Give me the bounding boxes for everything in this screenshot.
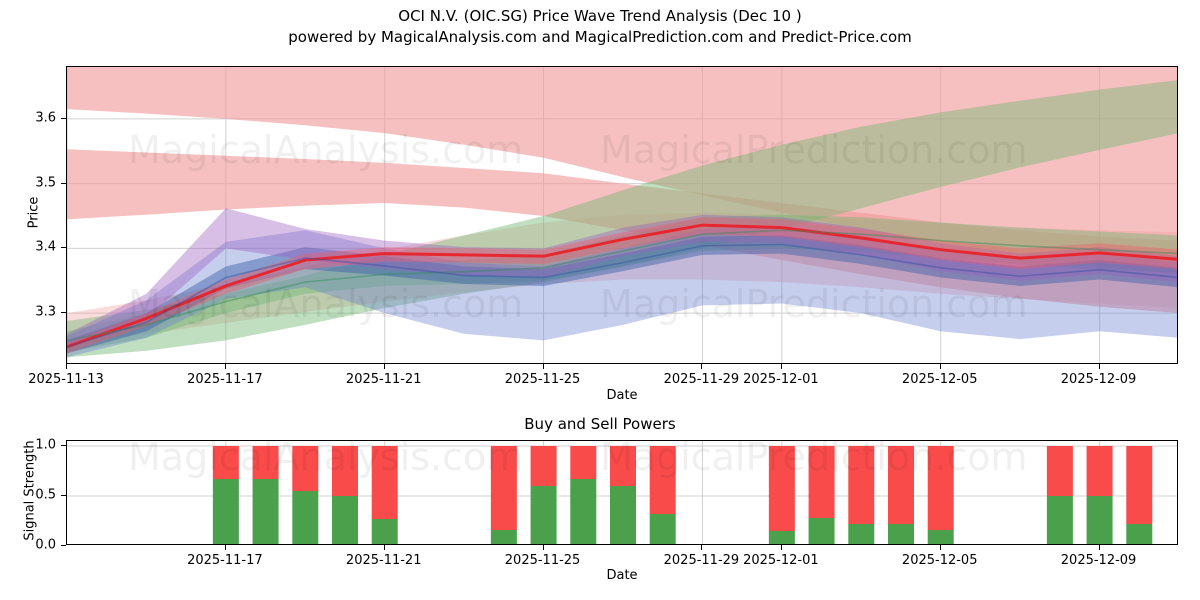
bar-segment-sell [888,446,914,524]
bar-segment-sell [1047,446,1073,496]
bar-segment-buy [809,518,835,545]
signal-chart-title: Buy and Sell Powers [0,415,1200,433]
signal-x-tick-label: 2025-11-21 [346,553,422,568]
signal-y-axis-label: Signal Strength [23,430,38,550]
bar-segment-sell [491,446,517,530]
bar-segment-sell [809,446,835,518]
bar-segment-buy [213,479,239,545]
bar-segment-buy [1087,496,1113,545]
bar-segment-buy [888,524,914,545]
price-x-tick-label: 2025-11-21 [346,372,422,387]
price-x-tick-mark [66,364,67,369]
signal-y-tick-mark [61,495,66,496]
price-x-tick-mark [701,364,702,369]
page-title: OCI N.V. (OIC.SG) Price Wave Trend Analy… [0,6,1200,27]
bar-segment-sell [570,446,596,479]
bar-segment-buy [650,514,676,545]
price-x-tick-label: 2025-11-13 [28,372,104,387]
signal-x-tick-mark [1099,545,1100,550]
price-x-tick-label: 2025-12-01 [743,372,819,387]
bar-segment-sell [650,446,676,514]
bar-segment-sell [531,446,557,486]
price-x-tick-mark [225,364,226,369]
bar-segment-buy [570,479,596,545]
bar-segment-buy [769,531,795,545]
price-y-tick-mark [61,183,66,184]
signal-x-tick-mark [701,545,702,550]
bar-segment-buy [332,496,358,545]
signal-x-tick-label: 2025-12-09 [1061,553,1137,568]
price-x-tick-label: 2025-11-25 [505,372,581,387]
bar-segment-sell [292,446,318,491]
bar-segment-sell [610,446,636,486]
price-x-tick-mark [384,364,385,369]
signal-y-tick-mark [61,445,66,446]
price-y-tick-mark [61,118,66,119]
figure-root: OCI N.V. (OIC.SG) Price Wave Trend Analy… [0,0,1200,600]
price-y-tick-mark [61,312,66,313]
bar-segment-buy [928,530,954,545]
signal-x-tick-mark [543,545,544,550]
price-y-tick-mark [61,247,66,248]
price-y-axis-label: Price [27,183,42,243]
signal-x-tick-mark [781,545,782,550]
price-x-tick-mark [543,364,544,369]
bar-segment-buy [531,486,557,545]
bar-segment-buy [253,479,279,545]
price-x-tick-mark [940,364,941,369]
price-x-tick-label: 2025-11-17 [187,372,263,387]
bar-segment-buy [610,486,636,545]
price-x-tick-label: 2025-12-05 [902,372,978,387]
chart-title-block: OCI N.V. (OIC.SG) Price Wave Trend Analy… [0,6,1200,48]
price-wave-svg [67,67,1178,364]
bar-segment-sell [332,446,358,496]
bar-segment-sell [1087,446,1113,496]
bar-segment-sell [1126,446,1152,524]
signal-x-tick-label: 2025-11-17 [187,553,263,568]
bar-segment-sell [372,446,398,519]
price-y-tick-label: 3.3 [0,305,56,320]
bar-segment-buy [372,519,398,545]
bar-segment-sell [848,446,874,524]
bar-segment-buy [1047,496,1073,545]
bar-segment-sell [213,446,239,479]
signal-x-tick-label: 2025-12-05 [902,553,978,568]
bar-segment-buy [292,491,318,545]
buy-sell-bars-svg [67,441,1178,545]
signal-x-tick-mark [384,545,385,550]
bar-segment-sell [769,446,795,531]
signal-x-tick-mark [940,545,941,550]
price-x-tick-mark [781,364,782,369]
signal-x-tick-label: 2025-11-25 [505,553,581,568]
bar-segment-buy [848,524,874,545]
price-x-tick-label: 2025-12-09 [1061,372,1137,387]
price-x-tick-label: 2025-11-29 [664,372,740,387]
signal-y-tick-mark [61,545,66,546]
bar-segment-buy [1126,524,1152,545]
price-x-tick-mark [1099,364,1100,369]
page-subtitle: powered by MagicalAnalysis.com and Magic… [0,27,1200,48]
bar-segment-buy [491,530,517,545]
signal-x-tick-label: 2025-11-29 [664,553,740,568]
signal-chart-plot-area [66,440,1178,545]
price-x-axis-label: Date [606,388,637,403]
price-chart-plot-area [66,66,1178,364]
signal-x-tick-label: 2025-12-01 [743,553,819,568]
signal-x-axis-label: Date [606,568,637,583]
price-y-tick-label: 3.6 [0,110,56,125]
bar-segment-sell [253,446,279,479]
signal-x-tick-mark [225,545,226,550]
bar-segment-sell [928,446,954,530]
